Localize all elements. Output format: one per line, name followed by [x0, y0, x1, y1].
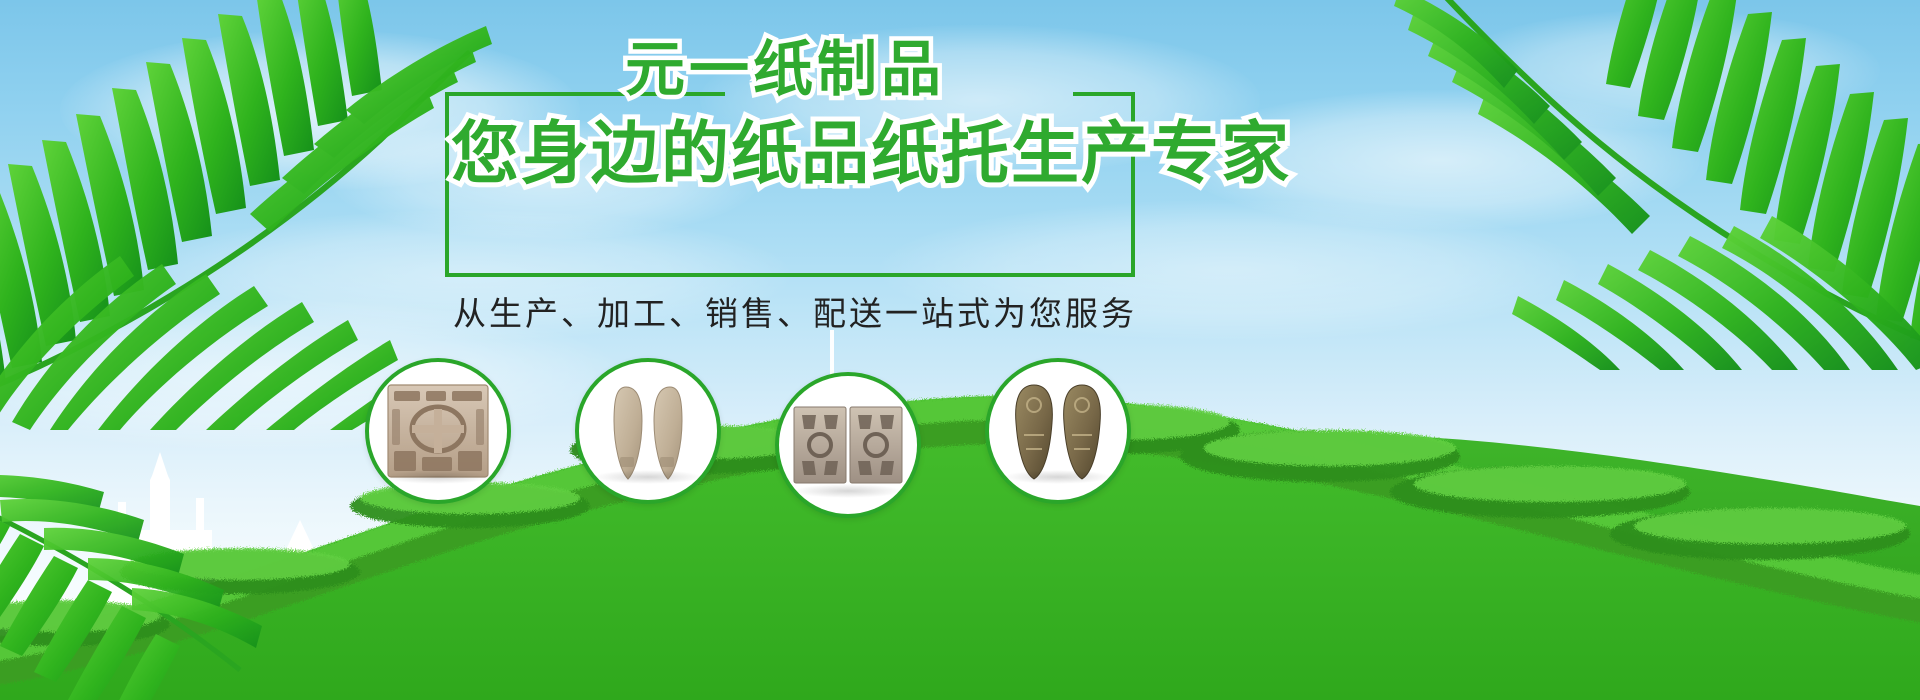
- tagline-text: 从生产、加工、销售、配送一站式为您服务: [445, 287, 1145, 335]
- product-shadow: [793, 484, 903, 498]
- product-circle-4[interactable]: [985, 358, 1131, 504]
- product-circle-1[interactable]: [365, 358, 511, 504]
- product-shadow: [593, 470, 703, 484]
- product-shadow: [383, 470, 493, 484]
- molded-pulp-shoe-forms-dark-icon: [1002, 379, 1114, 483]
- molded-pulp-tray-square-icon: [382, 379, 494, 483]
- product-circle-2[interactable]: [575, 358, 721, 504]
- molded-pulp-shoe-inserts-light-icon: [592, 379, 704, 483]
- product-shadow: [1003, 470, 1113, 484]
- molded-pulp-tray-pair-icon: [792, 393, 904, 497]
- headline-frame: 元一纸制品 您身边的纸品纸托生产专家: [445, 92, 1135, 277]
- headline-text: 您身边的纸品纸托生产专家: [451, 120, 1291, 188]
- product-circle-3[interactable]: [775, 372, 921, 518]
- promo-banner: 元一纸制品 您身边的纸品纸托生产专家 从生产、加工、销售、配送一站式为您服务: [0, 0, 1920, 700]
- frame-rule-right: [1073, 92, 1135, 96]
- brand-title: 元一纸制品: [625, 40, 945, 100]
